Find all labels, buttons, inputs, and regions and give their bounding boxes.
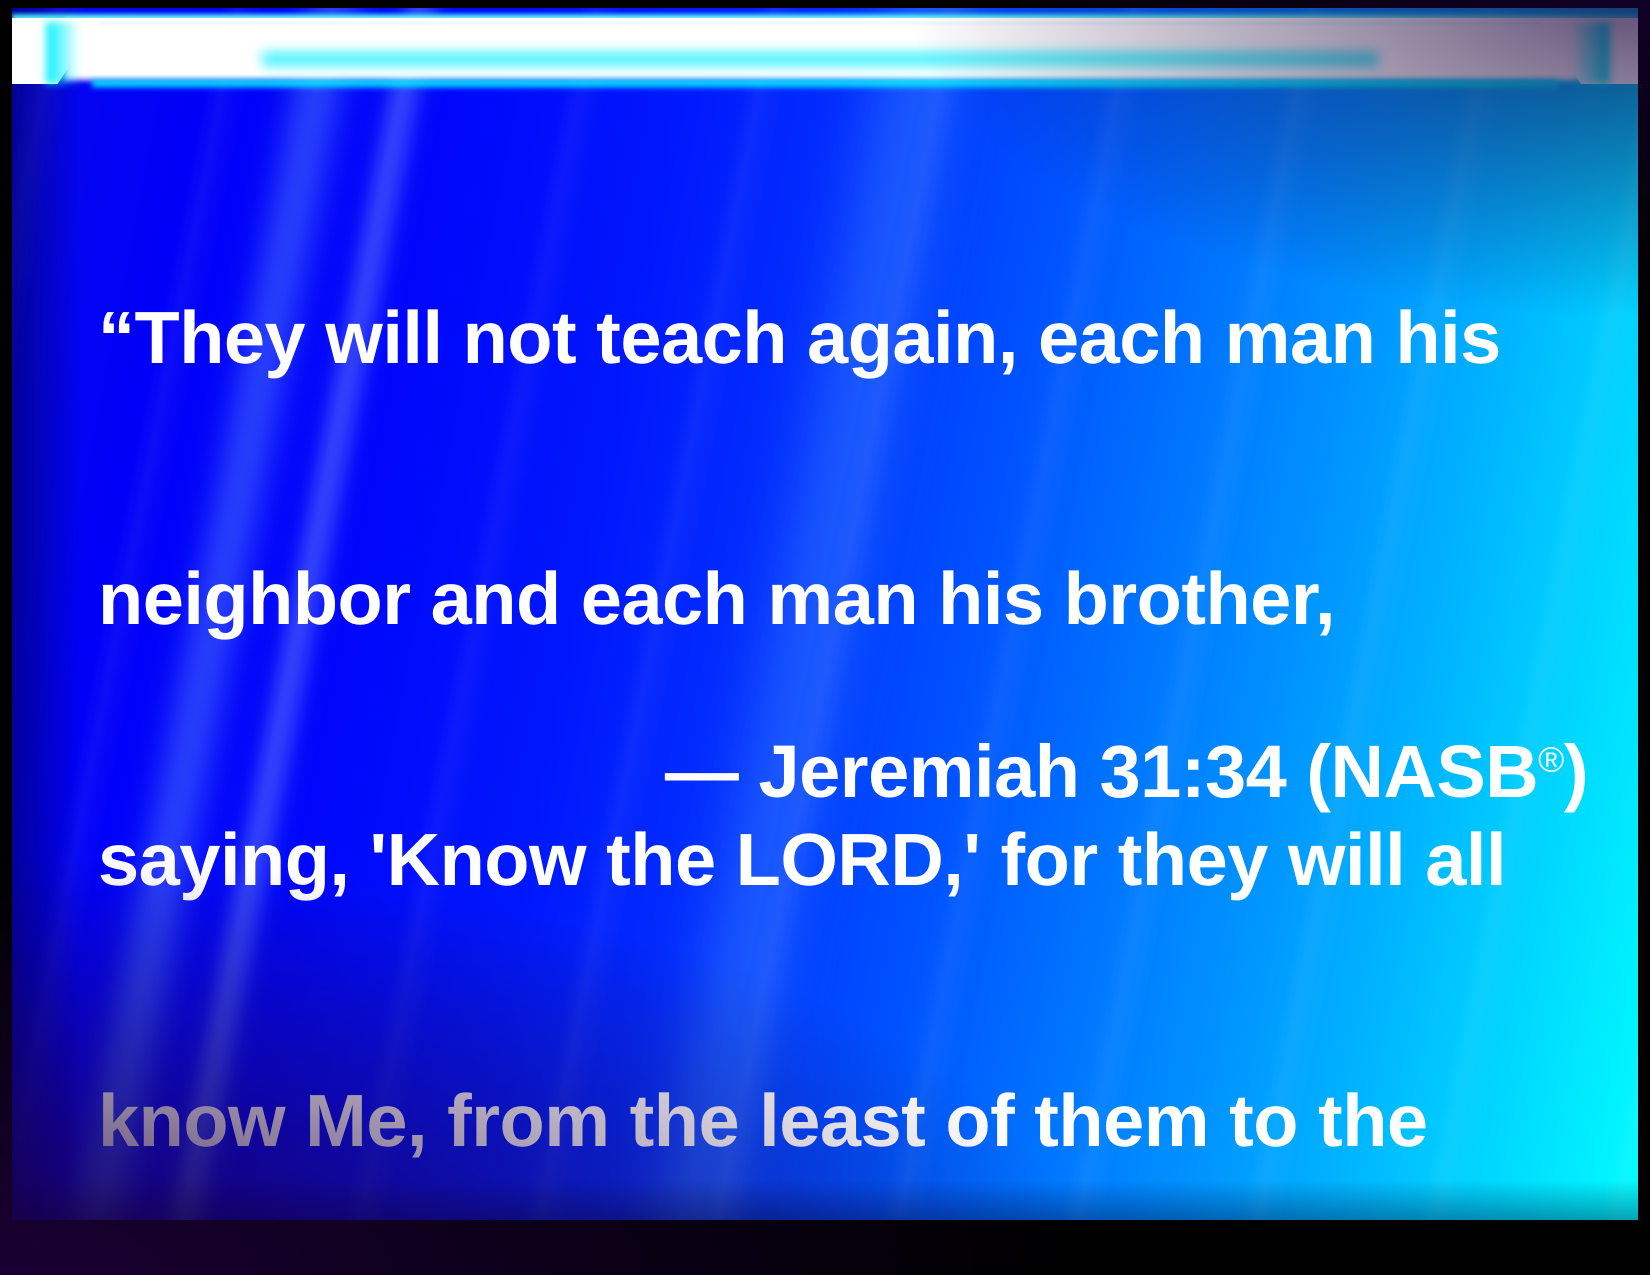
verse-line: neighbor and each man his brother, <box>98 555 1568 642</box>
slide-content-panel: “They will not teach again, each man his… <box>12 8 1638 1220</box>
verse-line: saying, 'Know the LORD,' for they will a… <box>98 816 1568 903</box>
verse-citation: — Jeremiah 31:34 (NASB®) <box>98 728 1588 815</box>
registered-trademark-icon: ® <box>1538 739 1564 779</box>
scripture-slide: “They will not teach again, each man his… <box>0 0 1650 1275</box>
verse-line: know Me, from the least of them to the <box>98 1077 1568 1164</box>
citation-suffix: ) <box>1564 730 1588 813</box>
verse-text: “They will not teach again, each man his… <box>98 120 1568 1220</box>
citation-prefix: — Jeremiah 31:34 (NASB <box>665 730 1538 813</box>
verse-line: “They will not teach again, each man his <box>98 294 1568 381</box>
